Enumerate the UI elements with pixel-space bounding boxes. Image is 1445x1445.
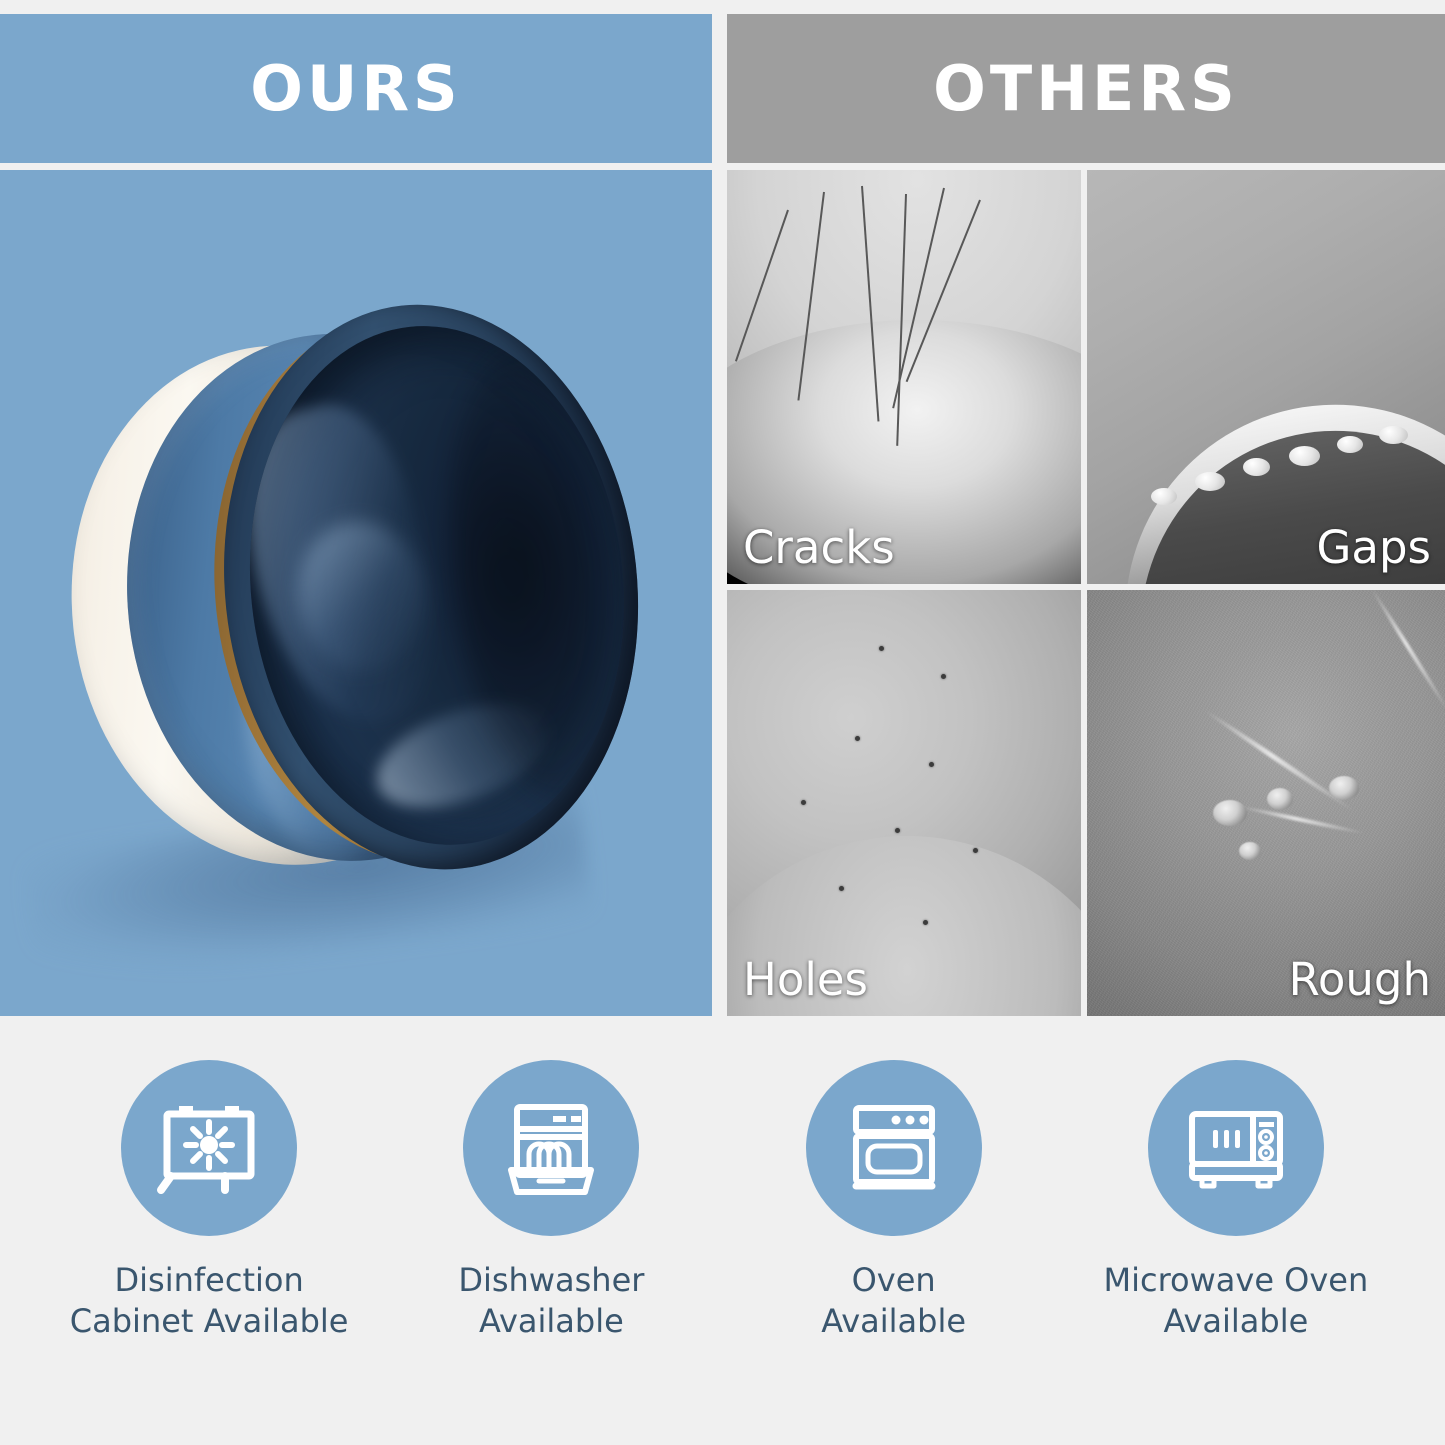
- gap-bump: [1151, 488, 1177, 505]
- feature-microwave-oven: Microwave Oven Available: [1081, 1060, 1391, 1342]
- defect-cell-cracks: Cracks: [727, 170, 1081, 584]
- oven-icon: [838, 1092, 950, 1204]
- others-defect-grid: Cracks Gaps: [727, 170, 1445, 1016]
- defect-cell-rough: Rough: [1087, 590, 1445, 1016]
- ours-product-panel: [0, 170, 712, 1016]
- defect-cell-holes: Holes: [727, 590, 1081, 1016]
- rough-blob: [1267, 788, 1293, 810]
- defect-label-holes: Holes: [743, 957, 868, 1002]
- others-header-banner: OTHERS: [727, 14, 1445, 163]
- pin-hole: [839, 886, 844, 891]
- pin-hole: [941, 674, 946, 679]
- pin-hole: [929, 762, 934, 767]
- feature-icon-row: Disinfection Cabinet Available: [0, 1060, 1445, 1445]
- comparison-infographic: OURS OTHERS: [0, 0, 1445, 1445]
- pin-hole: [855, 736, 860, 741]
- pin-hole: [801, 800, 806, 805]
- defect-label-rough: Rough: [1289, 957, 1431, 1002]
- feature-label: Microwave Oven Available: [1103, 1260, 1368, 1342]
- defect-label-cracks: Cracks: [743, 525, 895, 570]
- rough-blob: [1329, 776, 1359, 800]
- defect-label-gaps: Gaps: [1317, 525, 1431, 570]
- ours-header-title: OURS: [250, 58, 461, 120]
- pin-hole: [895, 828, 900, 833]
- feature-label: Dishwasher Available: [458, 1260, 644, 1342]
- gap-bump: [1243, 458, 1270, 476]
- microwave-oven-icon: [1180, 1092, 1292, 1204]
- dishwasher-icon: [495, 1092, 607, 1204]
- ceramic-bowl-image: [35, 261, 677, 938]
- rough-blob: [1239, 842, 1261, 860]
- feature-oven: Oven Available: [739, 1060, 1049, 1342]
- gap-bump: [1379, 426, 1408, 444]
- others-header-title: OTHERS: [933, 58, 1239, 120]
- pin-hole: [973, 848, 978, 853]
- pin-hole: [923, 920, 928, 925]
- pin-hole: [879, 646, 884, 651]
- feature-disinfection-cabinet: Disinfection Cabinet Available: [54, 1060, 364, 1342]
- feature-icon-circle: [463, 1060, 639, 1236]
- ours-header-banner: OURS: [0, 14, 712, 163]
- disinfection-cabinet-icon: [153, 1092, 265, 1204]
- feature-label: Disinfection Cabinet Available: [70, 1260, 349, 1342]
- feature-icon-circle: [1148, 1060, 1324, 1236]
- feature-label: Oven Available: [821, 1260, 966, 1342]
- feature-icon-circle: [806, 1060, 982, 1236]
- gap-bump: [1289, 446, 1320, 466]
- gap-bump: [1195, 472, 1225, 491]
- gap-bump: [1337, 436, 1363, 453]
- defect-cell-gaps: Gaps: [1087, 170, 1445, 584]
- rough-blob: [1213, 800, 1247, 826]
- feature-icon-circle: [121, 1060, 297, 1236]
- feature-dishwasher: Dishwasher Available: [396, 1060, 706, 1342]
